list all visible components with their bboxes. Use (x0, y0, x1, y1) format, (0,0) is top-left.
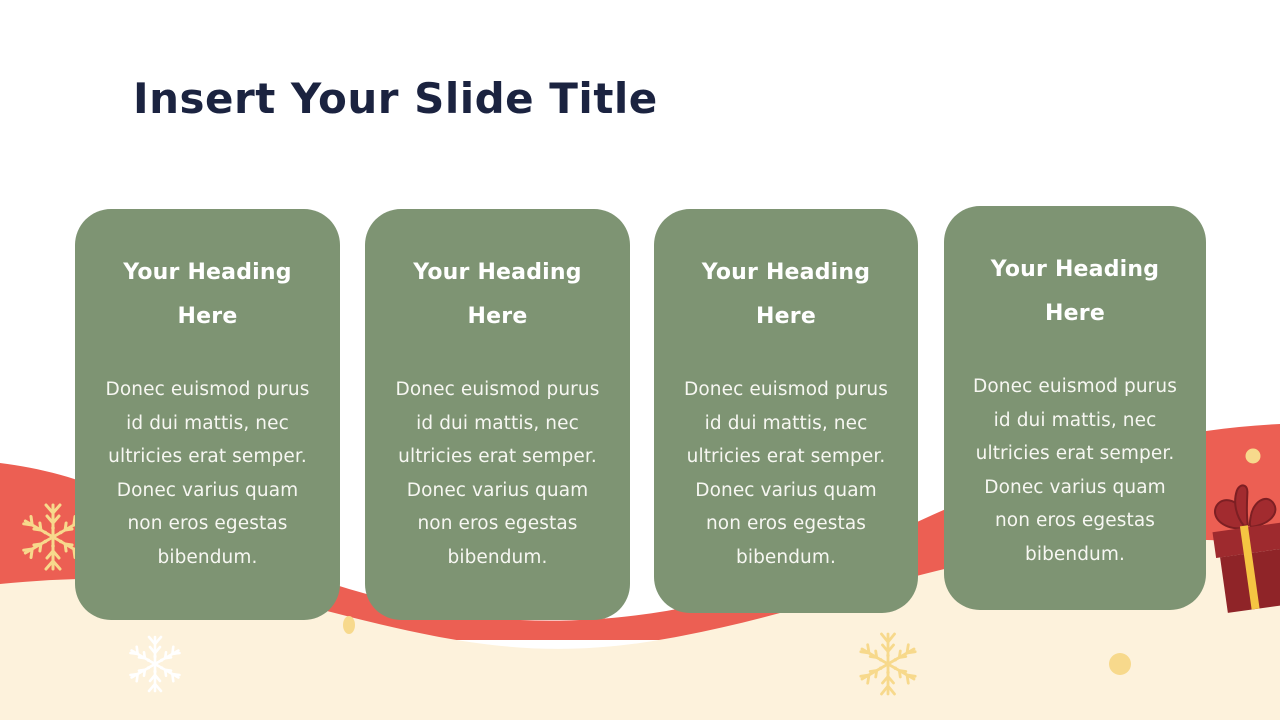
content-card-4[interactable]: Your Heading Here Donec euismod purus id… (944, 206, 1206, 610)
content-card-1[interactable]: Your Heading Here Donec euismod purus id… (75, 209, 340, 620)
card-body-2: Donec euismod purus id dui mattis, nec u… (391, 373, 604, 574)
snowflake-gold-center-icon (861, 634, 915, 694)
gift-bow-left-loop (1213, 498, 1246, 532)
gold-dot-center-icon (343, 616, 355, 634)
gift-ribbon-vertical (1240, 525, 1260, 609)
page-title: Insert Your Slide Title (133, 74, 658, 123)
gift-bow-right-loop (1247, 498, 1278, 527)
gift-box-lid (1212, 522, 1280, 558)
snowflake-gold-left-icon (24, 505, 83, 569)
card-heading-1: Your Heading Here (123, 251, 291, 339)
gold-dot-upper-right-icon (1246, 449, 1261, 464)
gift-box-body (1220, 549, 1280, 613)
card-heading-4: Your Heading Here (991, 248, 1159, 336)
gold-dot-lower-right-icon (1109, 653, 1131, 675)
gift-box (1207, 480, 1280, 613)
slide-canvas: Insert Your Slide Title Your Heading Her… (0, 0, 1280, 720)
gift-bow-tail-left (1233, 485, 1252, 527)
snowflake-white-left-icon (131, 637, 180, 691)
card-heading-2: Your Heading Here (413, 251, 581, 339)
content-card-2[interactable]: Your Heading Here Donec euismod purus id… (365, 209, 630, 620)
card-heading-3: Your Heading Here (702, 251, 870, 339)
card-body-1: Donec euismod purus id dui mattis, nec u… (101, 373, 314, 574)
card-body-4: Donec euismod purus id dui mattis, nec u… (970, 370, 1180, 571)
card-body-3: Donec euismod purus id dui mattis, nec u… (680, 373, 892, 574)
content-card-3[interactable]: Your Heading Here Donec euismod purus id… (654, 209, 918, 613)
